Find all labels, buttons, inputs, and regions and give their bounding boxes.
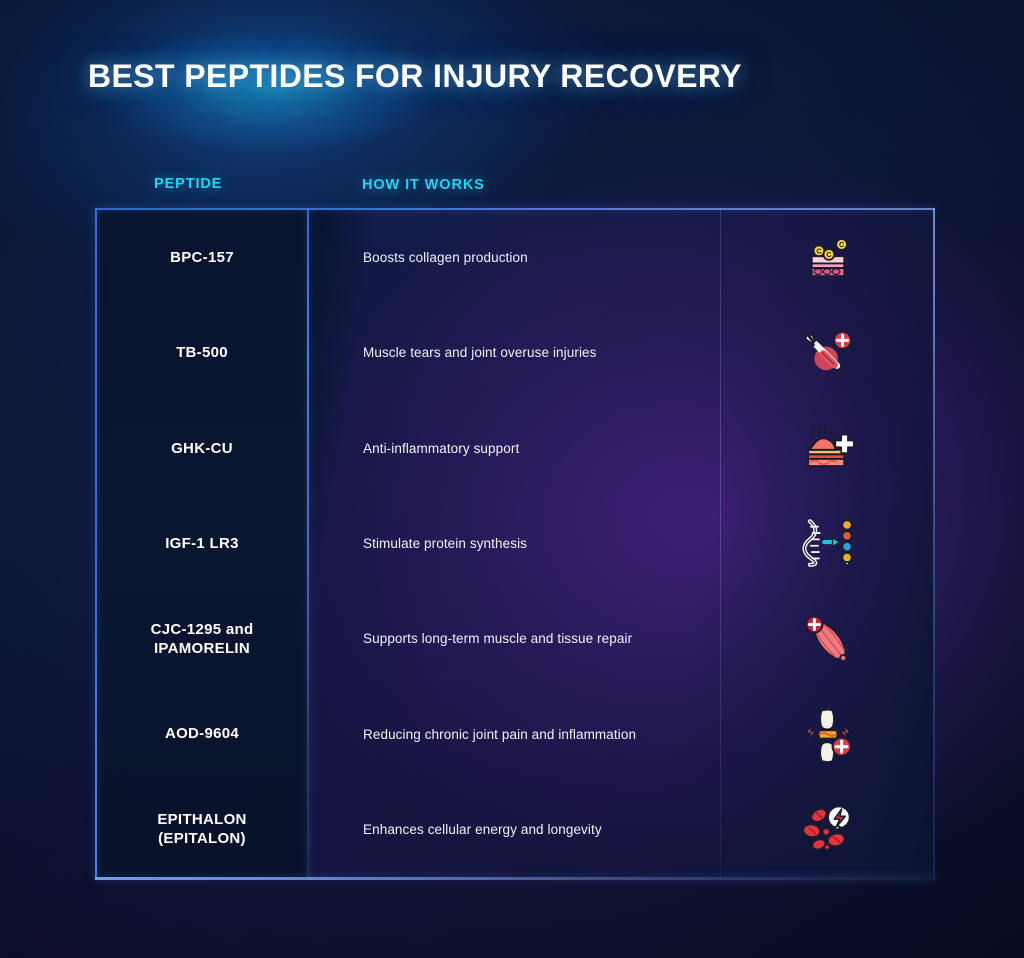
peptide-name: CJC-1295 and IPAMORELIN: [97, 620, 307, 658]
peptide-name-line1: CJC-1295 and: [151, 621, 254, 638]
table-border-right: [933, 208, 935, 880]
row-icon-cell: [722, 514, 933, 572]
how-it-works-text: Stimulate protein synthesis: [307, 536, 722, 551]
blood-cells-energy-icon: [799, 800, 857, 858]
table-row: EPITHALON (EPITALON) Enhances cellular e…: [97, 782, 933, 877]
table-rows: BPC-157 Boosts collagen production: [97, 210, 933, 877]
muscle-fiber-cross-icon: [799, 610, 857, 668]
how-it-works-text: Boosts collagen production: [307, 250, 722, 265]
peptide-name-line1: TB-500: [176, 344, 228, 361]
peptide-name-line2: (EPITALON): [158, 830, 246, 847]
table-row: TB-500 Muscle tears and joint overuse in…: [97, 305, 933, 400]
how-it-works-text: Enhances cellular energy and longevity: [307, 822, 722, 837]
peptide-name: TB-500: [97, 343, 307, 362]
row-icon-cell: [722, 800, 933, 858]
peptide-name: EPITHALON (EPITALON): [97, 810, 307, 848]
peptide-name-line1: IGF-1 LR3: [165, 535, 239, 552]
table-row: CJC-1295 and IPAMORELIN Supports long-te…: [97, 591, 933, 686]
how-it-works-text: Anti-inflammatory support: [307, 441, 722, 456]
peptide-name: GHK-CU: [97, 439, 307, 458]
knee-joint-pain-cross-icon: [799, 705, 857, 763]
inflamed-skin-cross-icon: [799, 419, 857, 477]
peptide-name-line1: GHK-CU: [171, 440, 233, 457]
page-title: BEST PEPTIDES FOR INJURY RECOVERY: [88, 58, 742, 95]
how-it-works-text: Reducing chronic joint pain and inflamma…: [307, 727, 722, 742]
table-row: BPC-157 Boosts collagen production: [97, 210, 933, 305]
peptide-name-line1: AOD-9604: [165, 725, 239, 742]
column-header-peptide: PEPTIDE: [154, 176, 222, 192]
column-header-how-it-works: HOW IT WORKS: [362, 177, 485, 193]
skin-layers-collagen-icon: CCC: [799, 229, 857, 287]
svg-text:C: C: [816, 246, 822, 255]
svg-text:C: C: [826, 250, 832, 259]
dna-protein-synthesis-icon: [799, 514, 857, 572]
injured-arm-medical-cross-icon: [799, 324, 857, 382]
svg-text:C: C: [838, 240, 844, 249]
table-row: GHK-CU Anti-inflammatory support: [97, 401, 933, 496]
how-it-works-text: Supports long-term muscle and tissue rep…: [307, 631, 722, 646]
peptide-name-line1: BPC-157: [170, 249, 234, 266]
table-row: AOD-9604 Reducing chronic joint pain and…: [97, 686, 933, 781]
table-row: IGF-1 LR3 Stimulate protein synthesis: [97, 496, 933, 591]
table-border-bottom: [95, 877, 935, 880]
row-icon-cell: [722, 324, 933, 382]
row-icon-cell: [722, 419, 933, 477]
peptide-name: AOD-9604: [97, 724, 307, 743]
row-icon-cell: [722, 610, 933, 668]
row-icon-cell: CCC: [722, 229, 933, 287]
peptide-name-line1: EPITHALON: [157, 811, 246, 828]
row-icon-cell: [722, 705, 933, 763]
peptide-name: BPC-157: [97, 248, 307, 267]
peptide-name: IGF-1 LR3: [97, 534, 307, 553]
peptide-name-line2: IPAMORELIN: [154, 640, 250, 657]
peptide-table: BPC-157 Boosts collagen production: [95, 208, 935, 880]
how-it-works-text: Muscle tears and joint overuse injuries: [307, 345, 722, 360]
